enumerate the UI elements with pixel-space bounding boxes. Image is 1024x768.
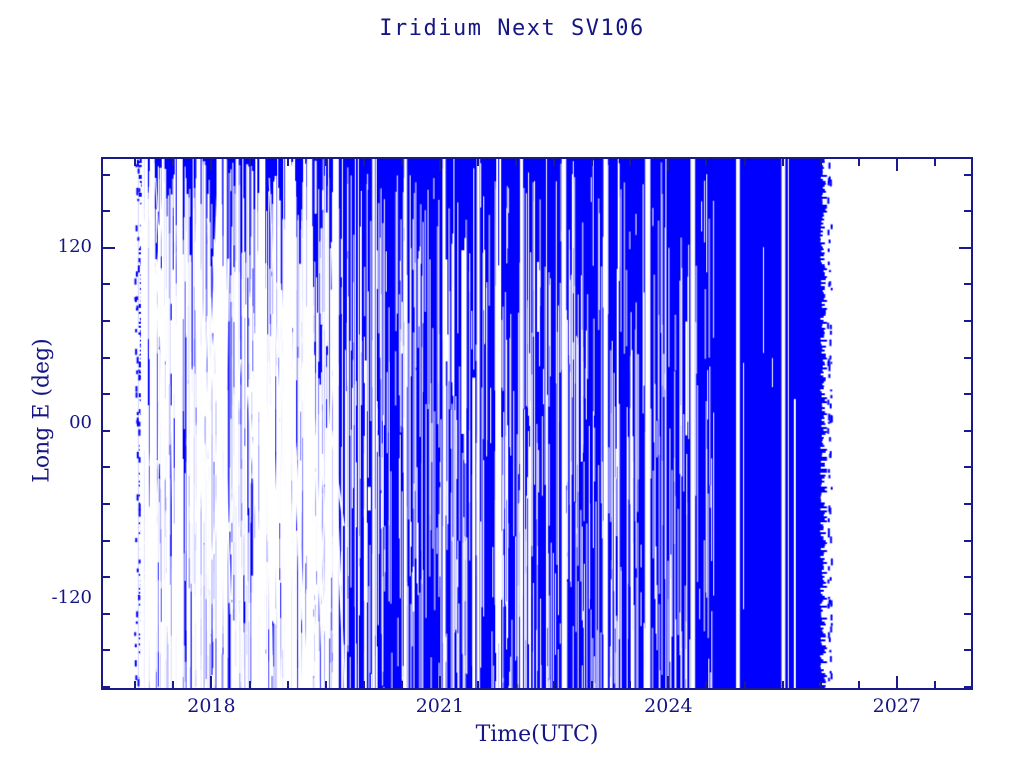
y-minor-tick-right [964,393,973,395]
y-minor-tick [101,283,110,285]
x-minor-tick [249,681,251,690]
y-minor-tick [101,613,110,615]
x-minor-tick-top [705,157,707,166]
y-tick-label: 120 [58,238,92,256]
x-minor-tick-top [134,157,136,166]
x-minor-tick [858,681,860,690]
x-major-tick-top [439,157,441,171]
x-minor-tick [363,681,365,690]
x-minor-tick [782,681,784,690]
x-minor-tick [515,681,517,690]
x-minor-tick-top [287,157,289,166]
y-major-tick-right [959,247,973,249]
x-minor-tick-top [820,157,822,166]
x-minor-tick-top [782,157,784,166]
x-minor-tick-top [325,157,327,166]
y-minor-tick-right [964,503,973,505]
x-minor-tick [325,681,327,690]
y-minor-tick [101,466,110,468]
x-minor-tick-top [591,157,593,166]
y-minor-tick [101,649,110,651]
x-minor-tick [934,681,936,690]
chart-page: Iridium Next SV106 12000-120 20182021202… [0,0,1024,768]
y-minor-tick-right [964,210,973,212]
y-major-tick [101,247,115,249]
y-minor-tick [101,686,110,688]
x-major-tick [210,676,212,690]
y-minor-tick-right [964,686,973,688]
y-minor-tick-right [964,320,973,322]
y-minor-tick-right [964,613,973,615]
x-major-tick-top [896,157,898,171]
y-minor-tick-right [964,576,973,578]
x-minor-tick-top [172,157,174,166]
x-minor-tick-top [858,157,860,166]
x-minor-tick-top [744,157,746,166]
x-minor-tick [744,681,746,690]
y-minor-tick-right [964,466,973,468]
x-minor-tick-top [249,157,251,166]
y-minor-tick [101,576,110,578]
x-minor-tick [820,681,822,690]
y-minor-tick-right [964,283,973,285]
x-minor-tick-top [629,157,631,166]
data-series-canvas [103,159,971,688]
y-minor-tick-right [964,357,973,359]
y-minor-tick [101,357,110,359]
x-minor-tick [477,681,479,690]
y-minor-tick-right [964,430,973,432]
x-minor-tick-top [553,157,555,166]
x-minor-tick-top [934,157,936,166]
x-tick-label: 2027 [873,697,921,716]
x-minor-tick [591,681,593,690]
y-minor-tick [101,210,110,212]
x-major-tick [439,676,441,690]
x-minor-tick-top [363,157,365,166]
x-minor-tick [401,681,403,690]
x-tick-label: 2021 [416,697,464,716]
y-minor-tick [101,320,110,322]
x-tick-label: 2024 [644,697,692,716]
x-minor-tick [287,681,289,690]
y-axis-title: Long E (deg) [30,271,55,551]
y-minor-tick [101,540,110,542]
x-minor-tick-top [477,157,479,166]
x-minor-tick-top [401,157,403,166]
x-minor-tick [705,681,707,690]
y-minor-tick [101,503,110,505]
y-minor-tick-right [964,649,973,651]
x-axis-title: Time(UTC) [101,722,973,747]
x-major-tick [667,676,669,690]
y-minor-tick [101,430,110,432]
x-major-tick-top [667,157,669,171]
x-minor-tick [629,681,631,690]
x-major-tick-top [210,157,212,171]
page-title: Iridium Next SV106 [0,16,1024,41]
y-minor-tick [101,174,110,176]
x-minor-tick-top [515,157,517,166]
x-minor-tick [172,681,174,690]
y-tick-label: 00 [69,414,92,432]
x-minor-tick [553,681,555,690]
y-minor-tick-right [964,174,973,176]
plot-area [101,157,973,690]
x-minor-tick [134,681,136,690]
y-tick-label: -120 [52,589,92,607]
y-minor-tick-right [964,540,973,542]
x-tick-label: 2018 [187,697,235,716]
x-major-tick [896,676,898,690]
y-minor-tick [101,393,110,395]
